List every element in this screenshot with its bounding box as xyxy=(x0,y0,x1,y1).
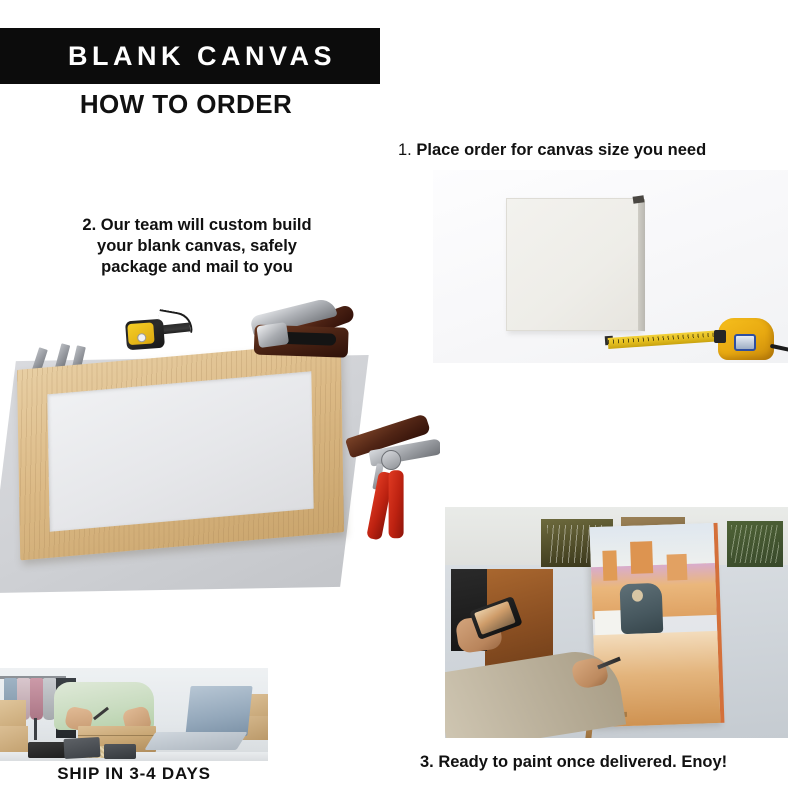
tape-measure-blade xyxy=(160,322,191,334)
tape-measure-case xyxy=(718,318,774,360)
notebook-icon xyxy=(64,737,101,759)
step-3-caption: 3. Ready to paint once delivered. Enoy! xyxy=(420,752,790,773)
laptop-keyboard xyxy=(144,732,247,750)
pliers-pivot xyxy=(381,450,402,471)
infographic-page: BLANK CANVAS HOW TO ORDER 1. Place order… xyxy=(0,0,800,800)
shipping-time-label: SHIP IN 3-4 DAYS xyxy=(0,764,268,784)
painted-building xyxy=(602,550,617,580)
step-2-line-1: 2. Our team will custom build xyxy=(52,215,342,236)
step-1-caption: 1. Place order for canvas size you need xyxy=(398,140,788,161)
hanging-garment xyxy=(30,678,43,720)
tape-measure-case xyxy=(125,319,165,351)
packing-boxes-with-laptop-photo xyxy=(0,668,268,761)
page-title: BLANK CANVAS xyxy=(44,43,336,70)
stacked-box xyxy=(0,700,26,728)
square-blank-canvas xyxy=(506,198,639,331)
wall-decor-right xyxy=(727,521,783,567)
page-subtitle: HOW TO ORDER xyxy=(0,90,372,119)
staple-gun-icon xyxy=(246,300,361,378)
clothing-rack-leg xyxy=(34,718,37,740)
tape-measure-window xyxy=(734,334,756,351)
calculator-icon xyxy=(28,742,68,758)
title-banner: BLANK CANVAS xyxy=(0,28,380,84)
step-2-caption: 2. Our team will custom build your blank… xyxy=(52,215,342,278)
painted-building xyxy=(630,541,653,574)
laptop-screen xyxy=(185,686,252,736)
canvas-pliers-icon xyxy=(338,418,440,566)
stretched-canvas-surface xyxy=(47,371,313,531)
canvas-side-edge xyxy=(638,199,645,332)
step-2-line-3: package and mail to you xyxy=(52,257,342,278)
tape-measure-slot xyxy=(714,330,726,343)
wooden-stretcher-frame-with-tools-photo xyxy=(0,300,440,600)
stacked-box xyxy=(0,726,28,754)
painted-building xyxy=(667,554,688,581)
phone-on-desk xyxy=(104,744,136,759)
pliers-red-handle xyxy=(389,470,404,538)
artist-painting-on-easel-photo xyxy=(445,507,788,738)
staple-gun-chrome-head xyxy=(256,322,289,348)
step-2-line-2: your blank canvas, safely xyxy=(52,236,342,257)
blank-canvas-with-tape-measure-photo xyxy=(433,170,788,363)
step-1-number: 1. xyxy=(398,141,412,159)
step-1-text: Place order for canvas size you need xyxy=(416,141,706,159)
